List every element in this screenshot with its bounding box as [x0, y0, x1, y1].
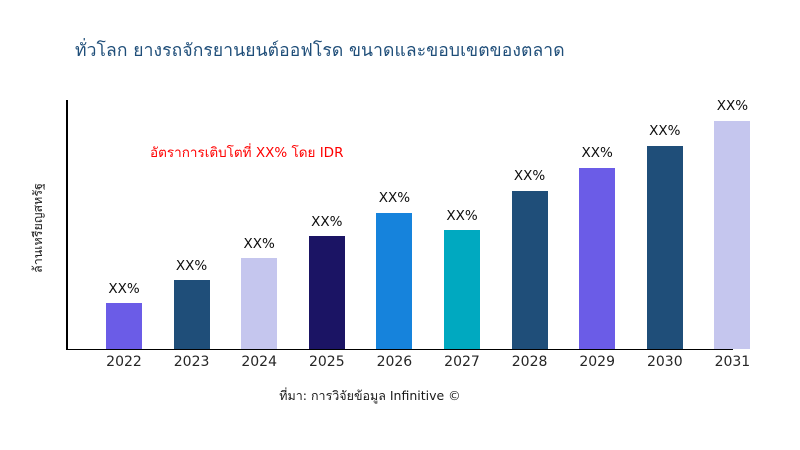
x-tick-label-2025: 2025 — [297, 355, 357, 369]
x-tick-label-2024: 2024 — [229, 355, 289, 369]
bar-rect-2022[interactable] — [106, 303, 142, 349]
bar-rect-2026[interactable] — [376, 213, 412, 349]
x-tick-label-2027: 2027 — [432, 355, 492, 369]
bar-2031[interactable]: XX% — [714, 121, 750, 349]
bar-2024[interactable]: XX% — [241, 258, 277, 349]
bar-rect-2027[interactable] — [444, 230, 480, 349]
bar-2027[interactable]: XX% — [444, 230, 480, 349]
source-note: ที่มา: การวิจัยข้อมูล Infinitive © — [0, 386, 740, 406]
bar-value-label-2022: XX% — [108, 283, 139, 297]
bar-value-label-2028: XX% — [514, 170, 545, 184]
bar-rect-2028[interactable] — [512, 191, 548, 349]
x-tick-label-2022: 2022 — [94, 355, 154, 369]
x-tick-label-2026: 2026 — [364, 355, 424, 369]
bar-rect-2025[interactable] — [309, 236, 345, 349]
x-tick-label-2031: 2031 — [702, 355, 762, 369]
bar-rect-2023[interactable] — [174, 280, 210, 349]
bar-rect-2031[interactable] — [714, 121, 750, 349]
bar-rect-2029[interactable] — [579, 168, 615, 349]
bar-2029[interactable]: XX% — [579, 168, 615, 349]
bar-2025[interactable]: XX% — [309, 236, 345, 349]
bar-2026[interactable]: XX% — [376, 213, 412, 349]
chart-container: ทั่วโลก ยางรถจักรยานยนต์ออฟโรด ขนาดและขอ… — [0, 0, 800, 450]
bar-2023[interactable]: XX% — [174, 280, 210, 349]
bar-2022[interactable]: XX% — [106, 303, 142, 349]
x-tick-label-2028: 2028 — [500, 355, 560, 369]
bar-value-label-2024: XX% — [244, 238, 275, 252]
bar-value-label-2023: XX% — [176, 260, 207, 274]
bar-value-label-2027: XX% — [446, 210, 477, 224]
plot-area: XX%2022XX%2023XX%2024XX%2025XX%2026XX%20… — [0, 0, 800, 450]
bar-rect-2024[interactable] — [241, 258, 277, 349]
bar-2030[interactable]: XX% — [647, 146, 683, 349]
bar-value-label-2029: XX% — [582, 147, 613, 161]
growth-rate-annotation: อัตราการเติบโตที่ XX% โดย IDR — [150, 141, 343, 163]
x-tick-label-2023: 2023 — [162, 355, 222, 369]
bar-value-label-2025: XX% — [311, 216, 342, 230]
bar-rect-2030[interactable] — [647, 146, 683, 349]
bar-value-label-2030: XX% — [649, 125, 680, 139]
x-tick-label-2030: 2030 — [635, 355, 695, 369]
bar-2028[interactable]: XX% — [512, 191, 548, 349]
bar-value-label-2031: XX% — [717, 100, 748, 114]
bar-value-label-2026: XX% — [379, 192, 410, 206]
x-tick-label-2029: 2029 — [567, 355, 627, 369]
